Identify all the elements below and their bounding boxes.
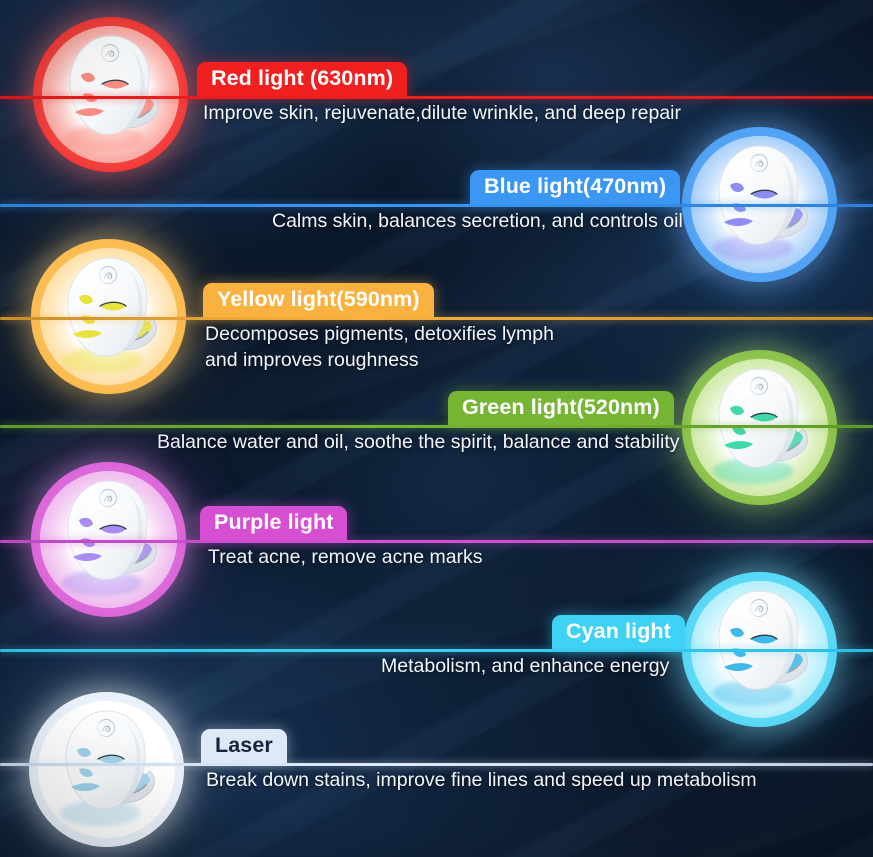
divider-purple bbox=[0, 540, 873, 543]
description-green: Balance water and oil, soothe the spirit… bbox=[157, 429, 679, 455]
badge-purple[interactable]: Purple light bbox=[200, 506, 347, 540]
badge-green[interactable]: Green light(520nm) bbox=[448, 391, 674, 425]
badge-cyan[interactable]: Cyan light bbox=[552, 615, 685, 649]
badge-yellow[interactable]: Yellow light(590nm) bbox=[203, 283, 434, 317]
led-face-mask-illustration bbox=[38, 701, 175, 838]
mask-inner-laser bbox=[38, 701, 175, 838]
divider-green bbox=[0, 425, 873, 428]
divider-blue bbox=[0, 204, 873, 207]
description-red: Improve skin, rejuvenate,dilute wrinkle,… bbox=[203, 100, 681, 126]
mask-image-red bbox=[33, 17, 188, 172]
divider-laser bbox=[0, 763, 873, 766]
badge-laser[interactable]: Laser bbox=[201, 729, 287, 763]
badge-blue[interactable]: Blue light(470nm) bbox=[470, 170, 680, 204]
divider-yellow bbox=[0, 317, 873, 320]
description-laser: Break down stains, improve fine lines an… bbox=[206, 767, 757, 793]
description-cyan: Metabolism, and enhance energy bbox=[381, 653, 669, 679]
mask-inner-red bbox=[42, 26, 179, 163]
badge-red[interactable]: Red light (630nm) bbox=[197, 62, 407, 96]
description-yellow: Decomposes pigments, detoxifies lymph an… bbox=[205, 321, 554, 373]
description-blue: Calms skin, balances secretion, and cont… bbox=[272, 208, 683, 234]
infographic-poster: Red light (630nm)Improve skin, rejuvenat… bbox=[0, 0, 873, 857]
divider-cyan bbox=[0, 649, 873, 652]
led-face-mask-illustration bbox=[42, 26, 179, 163]
description-purple: Treat acne, remove acne marks bbox=[208, 544, 483, 570]
mask-image-laser bbox=[29, 692, 184, 847]
divider-red bbox=[0, 96, 873, 99]
